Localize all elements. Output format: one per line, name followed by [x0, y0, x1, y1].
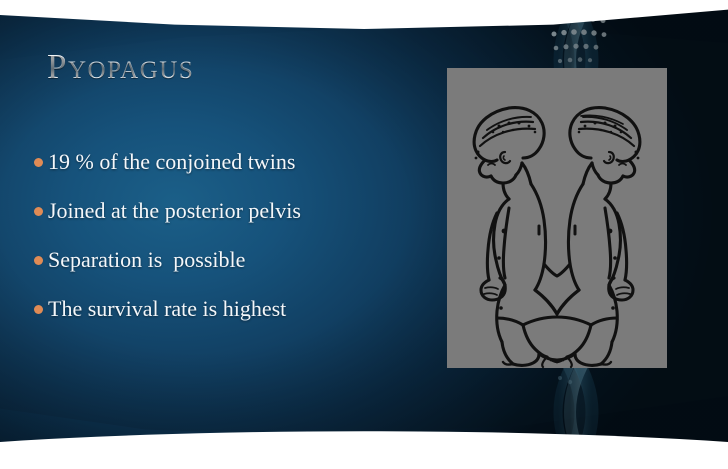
list-item-label: Joined at the posterior pelvis [48, 197, 301, 225]
presentation-slide: Pyopagus Pyopagus 19 % of the conjoined … [0, 0, 728, 469]
list-item: Separation is possible [34, 246, 434, 276]
conjoined-twins-figure [447, 68, 667, 368]
page-title: Pyopagus [47, 47, 194, 87]
list-item-label: The survival rate is highest [48, 295, 286, 323]
bullet-dot-icon [34, 158, 43, 167]
bullet-dot-icon [34, 256, 43, 265]
conjoined-twins-illustration [447, 68, 667, 368]
bullet-dot-icon [34, 305, 43, 314]
bullet-list: 19 % of the conjoined twins Joined at th… [34, 148, 434, 344]
list-item: Joined at the posterior pelvis [34, 197, 434, 227]
list-item-label: Separation is possible [48, 246, 245, 274]
list-item-label: 19 % of the conjoined twins [48, 148, 295, 176]
bullet-dot-icon [34, 207, 43, 216]
list-item: The survival rate is highest [34, 295, 434, 325]
list-item: 19 % of the conjoined twins [34, 148, 434, 178]
